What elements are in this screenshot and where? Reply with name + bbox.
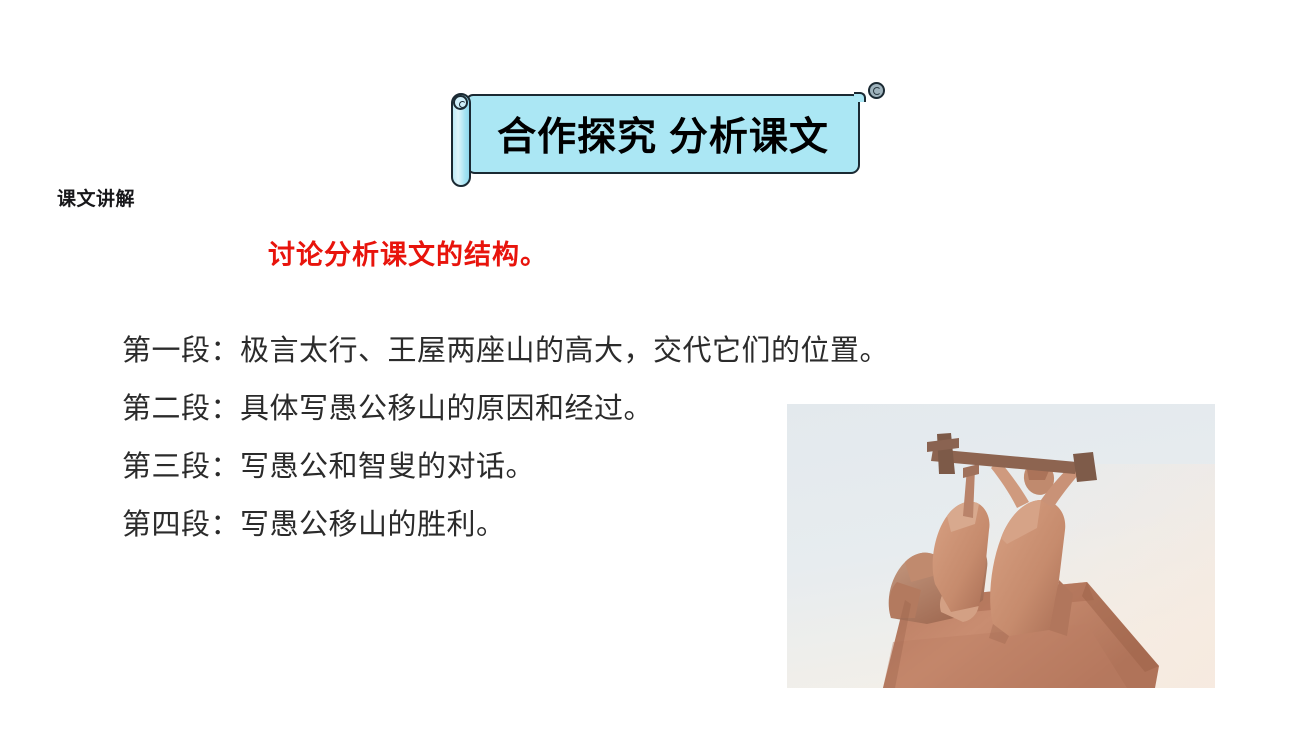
discussion-prompt-heading: 讨论分析课文的结构。 [268, 233, 548, 272]
statue-illustration [787, 404, 1215, 688]
scroll-knob-right-icon [868, 82, 885, 99]
page-title: 合作探究 分析课文 [466, 94, 860, 174]
yugong-yishan-statue-photo [787, 404, 1215, 688]
scroll-curl-left-icon [453, 95, 468, 110]
title-banner: 合作探究 分析课文 [448, 86, 886, 190]
banner-right-stub [854, 92, 866, 102]
section-label: 课文讲解 [57, 184, 135, 211]
outline-item: 第一段：极言太行、王屋两座山的高大，交代它们的位置。 [122, 322, 982, 380]
